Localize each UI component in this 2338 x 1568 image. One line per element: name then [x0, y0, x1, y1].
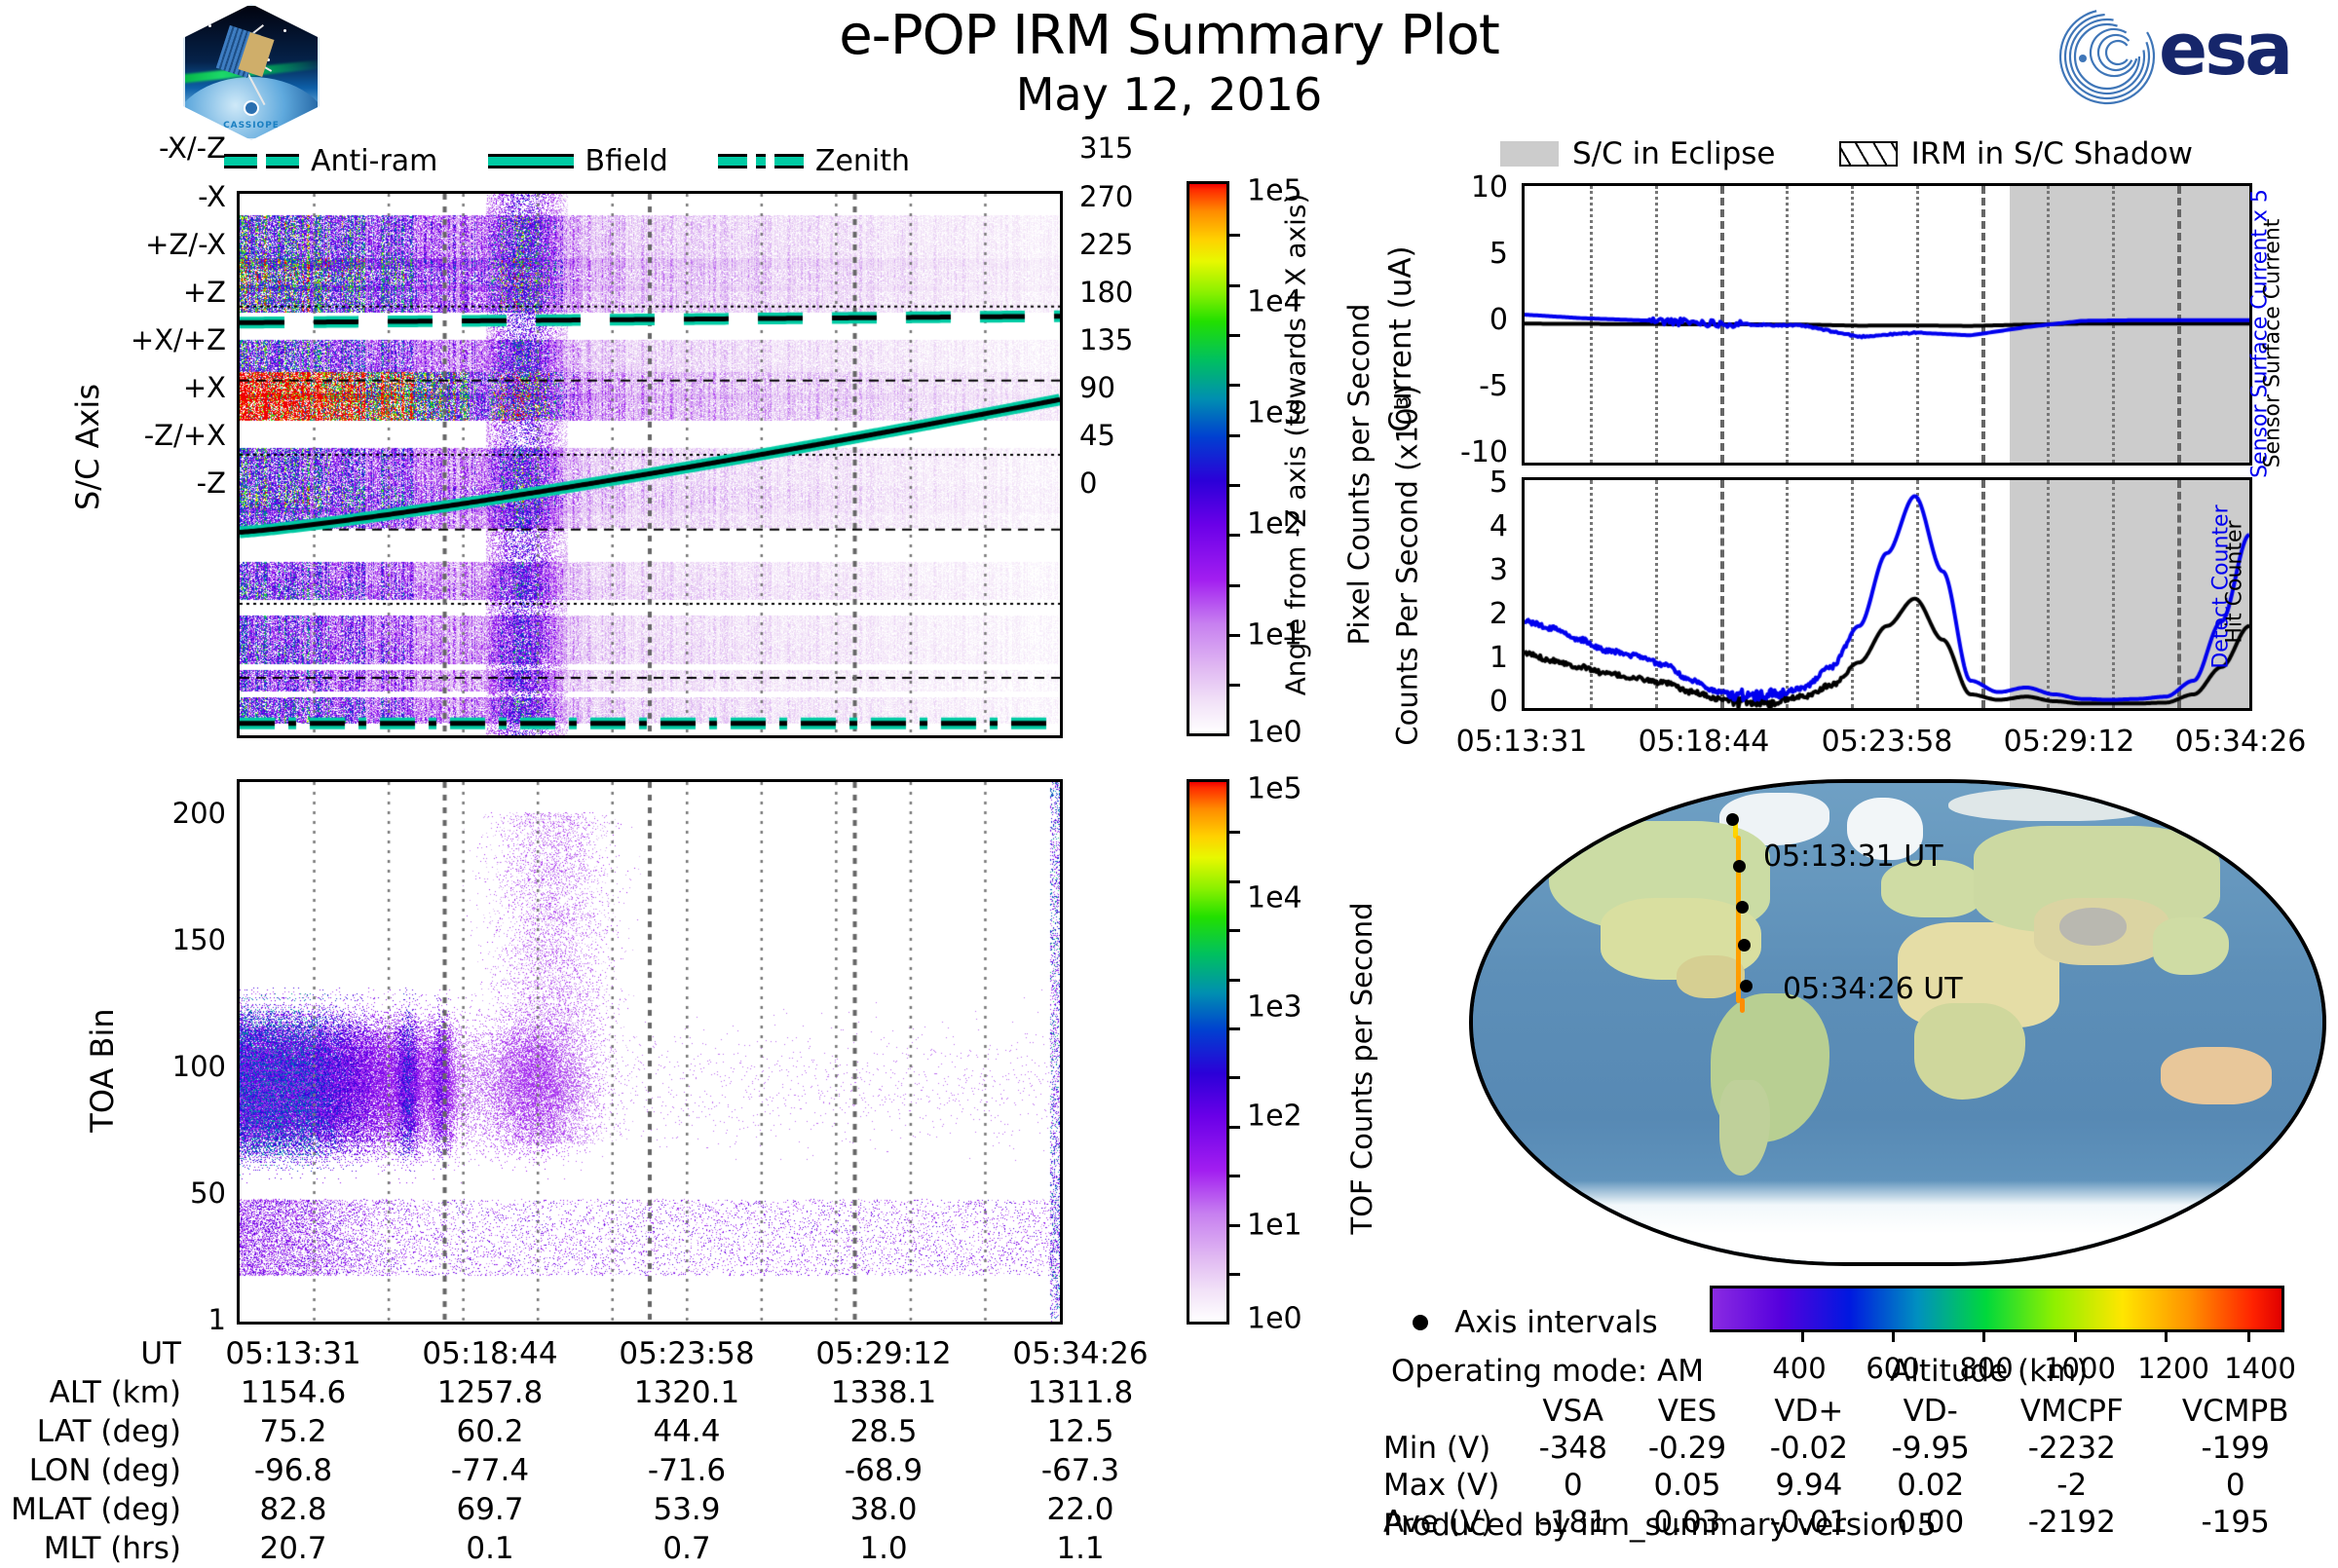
column-header: VD- [1869, 1393, 1991, 1430]
cell: -71.6 [588, 1451, 785, 1490]
colorbar-tick [1226, 484, 1240, 487]
cell: 05:34:26 [982, 1334, 1179, 1373]
table-row: UT05:13:3105:18:4405:23:5805:29:1205:34:… [10, 1334, 1179, 1373]
counts-per-second-plot[interactable] [1522, 477, 2252, 711]
colorbar-tick [1226, 334, 1240, 337]
colorbar-tick [2074, 1329, 2077, 1342]
spectrogram-legend: Anti-ram Bfield Zenith [224, 144, 1023, 175]
table-row: MLAT (deg)82.869.753.938.022.0 [10, 1490, 1179, 1529]
cell: 05:13:31 [195, 1334, 392, 1373]
sensor-current-plot[interactable] [1522, 183, 2252, 466]
altitude-colorbar-ticks: 400 600 800 1000 1200 1400 [0, 0, 1, 1]
colorbar-tick [1226, 1126, 1240, 1129]
cell: 69.7 [392, 1490, 588, 1529]
column-header: VSA [1520, 1393, 1627, 1430]
ground-track-map[interactable]: 05:13:31 UT 05:34:26 UT [1469, 779, 2326, 1266]
cell: 22.0 [982, 1490, 1179, 1529]
colorbar-tick [1982, 1329, 1985, 1342]
legend-label-anti-ram: Anti-ram [311, 144, 437, 178]
legend-item-zenith: Zenith [718, 144, 910, 178]
cell: -77.4 [392, 1451, 588, 1490]
colorbar-tick [1226, 584, 1240, 587]
cell: -0.02 [1748, 1430, 1869, 1467]
cell: 75.2 [195, 1412, 392, 1451]
counts-ylabel: Counts Per Second (x10³) [1392, 464, 1422, 746]
cell: 0 [1520, 1467, 1627, 1504]
table-row: MLT (hrs)20.70.10.71.01.1 [10, 1529, 1179, 1568]
cell: 1154.6 [195, 1373, 392, 1412]
cell: 05:23:58 [588, 1334, 785, 1373]
current-right-label-black: Sensor Surface Current [2261, 139, 2285, 548]
legend-label-zenith: Zenith [815, 144, 910, 178]
esa-wordmark: esa [2159, 14, 2290, 86]
colorbar-tick [1226, 434, 1240, 437]
cell: -195 [2152, 1504, 2319, 1541]
sc-axis-spectrogram[interactable] [237, 191, 1063, 738]
colorbar-tick [1226, 234, 1240, 237]
cell: 1338.1 [785, 1373, 982, 1412]
colorbar-tick [1226, 1175, 1240, 1177]
operating-mode-label: Operating mode: AM [1391, 1354, 1704, 1389]
column-header: VES [1627, 1393, 1749, 1430]
solid-line-icon [488, 154, 574, 168]
toa-bin-ylabel: TOA Bin [84, 963, 121, 1177]
tof-counts-colorbar-label: TOF Counts per Second [1345, 796, 1378, 1341]
cell: 38.0 [785, 1490, 982, 1529]
legend-label-shadow: IRM in S/C Shadow [1911, 136, 2193, 171]
cell: 1.1 [982, 1529, 1179, 1568]
cell: 0.7 [588, 1529, 785, 1568]
eclipse-legend: S/C in Eclipse IRM in S/C Shadow [1500, 136, 2338, 171]
track-start-label: 05:13:31 UT [1763, 840, 1943, 874]
gray-swatch-icon [1500, 141, 1559, 167]
page-subtitle: May 12, 2016 [682, 68, 1656, 121]
colorbar-tick [1226, 384, 1240, 387]
row-label: UT [10, 1334, 195, 1373]
legend-label-bfield: Bfield [585, 144, 668, 178]
cell: 20.7 [195, 1529, 392, 1568]
legend-item-shadow: IRM in S/C Shadow [1839, 136, 2193, 171]
cell: 05:29:12 [785, 1334, 982, 1373]
counts-right-label-black: Hit Counter [2223, 436, 2247, 728]
colorbar-tick [2247, 1329, 2250, 1342]
dot-marker-icon [1413, 1315, 1428, 1330]
cell: 9.94 [1748, 1467, 1869, 1504]
row-label: MLT (hrs) [10, 1529, 195, 1568]
ephemeris-table: UT05:13:3105:18:4405:23:5805:29:1205:34:… [10, 1334, 1179, 1568]
colorbar-tick [1226, 831, 1240, 834]
colorbar-tick [1226, 1027, 1240, 1030]
colorbar-tick [1226, 929, 1240, 932]
toa-bin-spectrogram[interactable] [237, 779, 1063, 1325]
column-header: VCMPB [2152, 1393, 2319, 1430]
colorbar-tick [1226, 1076, 1240, 1079]
legend-item-bfield: Bfield [488, 144, 668, 178]
cell: 1.0 [785, 1529, 982, 1568]
cell: 12.5 [982, 1412, 1179, 1451]
cell: 82.8 [195, 1490, 392, 1529]
colorbar-tick [1892, 1329, 1895, 1342]
cell: 0.1 [392, 1529, 588, 1568]
row-label: Min (V) [1383, 1430, 1520, 1467]
row-label: LAT (deg) [10, 1412, 195, 1451]
table-row: ALT (km)1154.61257.81320.11338.11311.8 [10, 1373, 1179, 1412]
legend-item-anti-ram: Anti-ram [224, 144, 437, 178]
cell: -199 [2152, 1430, 2319, 1467]
row-label: MLAT (deg) [10, 1490, 195, 1529]
table-row: LAT (deg)75.260.244.428.512.5 [10, 1412, 1179, 1451]
table-row: Max (V)00.059.940.02-20 [1383, 1467, 2319, 1504]
cell: -2 [1991, 1467, 2152, 1504]
cell: 0 [2152, 1467, 2319, 1504]
cell: -0.29 [1627, 1430, 1749, 1467]
dashed-line-icon [224, 154, 299, 168]
row-label: ALT (km) [10, 1373, 195, 1412]
track-end-label: 05:34:26 UT [1783, 972, 1963, 1006]
page-title: e-POP IRM Summary Plot [682, 4, 1656, 67]
cell: 0.02 [1869, 1467, 1991, 1504]
cell: 44.4 [588, 1412, 785, 1451]
colorbar-tick [1226, 684, 1240, 687]
cell: -2232 [1991, 1430, 2152, 1467]
pixel-counts-colorbar-label: Pixel Counts per Second [1342, 202, 1376, 747]
cell: -67.3 [982, 1451, 1179, 1490]
pixel-counts-colorbar [1187, 181, 1229, 736]
colorbar-tick [1226, 284, 1240, 287]
colorbar-tick [1226, 979, 1240, 982]
produced-by-label: Produced by irm_summary version 5 [1383, 1508, 1937, 1543]
table-header-row: VSAVESVD+VD-VMCPFVCMPB [1383, 1393, 2319, 1430]
cell: 05:18:44 [392, 1334, 588, 1373]
tof-counts-colorbar [1187, 779, 1229, 1325]
colorbar-tick [1801, 1329, 1804, 1342]
cell: -96.8 [195, 1451, 392, 1490]
axis-intervals-legend: Axis intervals [1413, 1305, 1658, 1340]
cell: -2192 [1991, 1504, 2152, 1541]
colorbar-tick [1226, 1224, 1240, 1227]
altitude-colorbar-label: Altitude (km) [1890, 1354, 2088, 1389]
cell: 1311.8 [982, 1373, 1179, 1412]
esa-logo-icon: esa [2054, 4, 2317, 111]
legend-label-eclipse: S/C in Eclipse [1572, 136, 1776, 171]
table-row: LON (deg)-96.8-77.4-71.6-68.9-67.3 [10, 1451, 1179, 1490]
table-row: Min (V)-348-0.29-0.02-9.95-2232-199 [1383, 1430, 2319, 1467]
cell: 0.05 [1627, 1467, 1749, 1504]
colorbar-tick [2165, 1329, 2168, 1342]
cell: 53.9 [588, 1490, 785, 1529]
cell: -348 [1520, 1430, 1627, 1467]
cassiope-mission-patch-icon: CASSIOPE [183, 4, 320, 140]
row-label: LON (deg) [10, 1451, 195, 1490]
patch-label: CASSIOPE [185, 121, 318, 131]
colorbar-tick [1226, 534, 1240, 537]
sc-axis-ylabel: S/C Axis [69, 350, 106, 544]
cell: 1320.1 [588, 1373, 785, 1412]
altitude-colorbar [1710, 1286, 2284, 1332]
cell: -68.9 [785, 1451, 982, 1490]
cell: 60.2 [392, 1412, 588, 1451]
cell: 1257.8 [392, 1373, 588, 1412]
column-header: VD+ [1748, 1393, 1869, 1430]
cell: 28.5 [785, 1412, 982, 1451]
hatched-swatch-icon [1839, 141, 1898, 167]
colorbar-tick [1226, 1273, 1240, 1276]
corner-cell [1383, 1393, 1520, 1430]
row-label: Max (V) [1383, 1467, 1520, 1504]
legend-item-eclipse: S/C in Eclipse [1500, 136, 1776, 171]
dash-dot-line-icon [718, 154, 804, 168]
colorbar-tick [1226, 634, 1240, 637]
colorbar-tick [1226, 880, 1240, 883]
column-header: VMCPF [1991, 1393, 2152, 1430]
cell: -9.95 [1869, 1430, 1991, 1467]
